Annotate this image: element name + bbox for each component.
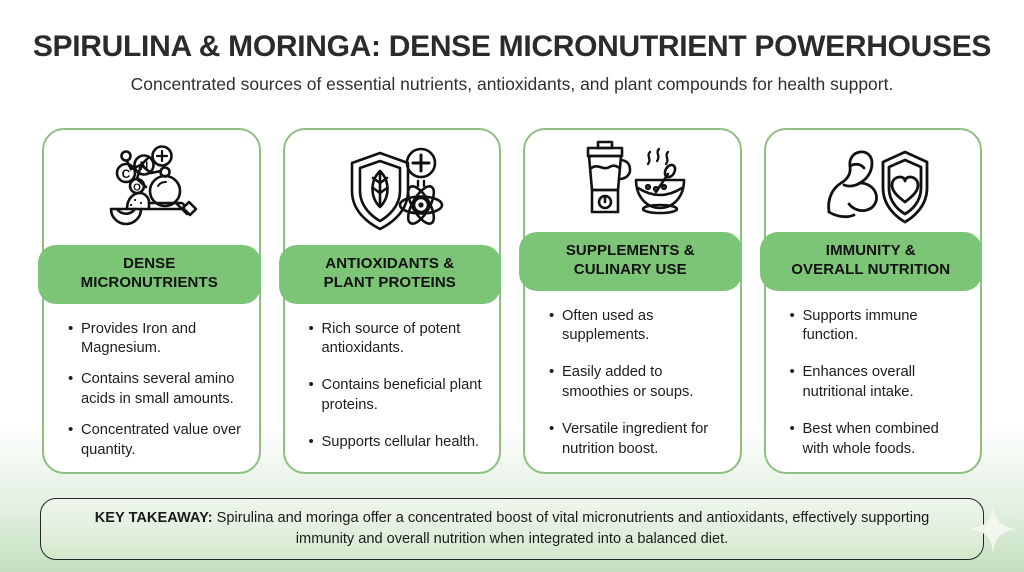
card-antioxidants-plant-proteins: ANTIOXIDANTS & PLANT PROTEINS Rich sourc… — [283, 128, 502, 474]
list-item: Easily added to smoothies or soups. — [549, 363, 726, 403]
card-title-pill: ANTIOXIDANTS & PLANT PROTEINS — [279, 245, 502, 304]
card-title-line-1: ANTIOXIDANTS & — [287, 255, 494, 274]
card-title-line-2: OVERALL NUTRITION — [768, 261, 975, 280]
list-item: Contains beneficial plant proteins. — [309, 376, 486, 416]
card-bullet-list: Provides Iron and Magnesium. Contains se… — [44, 320, 259, 472]
card-title-line-1: DENSE — [46, 255, 253, 274]
list-item: Enhances overall nutritional intake. — [790, 363, 967, 403]
card-title-pill: SUPPLEMENTS & CULINARY USE — [519, 232, 742, 291]
card-title-line-1: SUPPLEMENTS & — [527, 242, 734, 261]
key-takeaway-text: KEY TAKEAWAY: Spirulina and moringa offe… — [67, 508, 957, 549]
list-item: Supports cellular health. — [309, 433, 486, 453]
card-title-pill: DENSE MICRONUTRIENTS — [38, 245, 261, 304]
blender-soup-bowl-icon — [525, 130, 740, 232]
shield-leaf-atom-icon — [285, 130, 500, 245]
list-item: Best when combined with whole foods. — [790, 420, 967, 460]
card-bullet-list: Supports immune function. Enhances overa… — [766, 307, 981, 477]
card-dense-micronutrients: C N O — [42, 128, 261, 474]
key-takeaway-label: KEY TAKEAWAY: — [95, 510, 213, 526]
key-takeaway-body: Spirulina and moringa offer a concentrat… — [213, 510, 930, 547]
svg-text:C: C — [122, 167, 131, 181]
svg-text:N: N — [140, 159, 149, 173]
list-item: Contains several amino acids in small am… — [68, 370, 245, 410]
list-item: Provides Iron and Magnesium. — [68, 320, 245, 360]
card-immunity-overall-nutrition: IMMUNITY & OVERALL NUTRITION Supports im… — [764, 128, 983, 474]
card-title-line-2: MICRONUTRIENTS — [46, 274, 253, 293]
card-title-line-1: IMMUNITY & — [768, 242, 975, 261]
molecule-magnifier-scoop-icon: C N O — [44, 130, 259, 245]
list-item: Rich source of potent antioxidants. — [309, 320, 486, 360]
list-item: Concentrated value over quantity. — [68, 421, 245, 461]
card-title-line-2: PLANT PROTEINS — [287, 274, 494, 293]
key-takeaway-banner: KEY TAKEAWAY: Spirulina and moringa offe… — [40, 498, 984, 560]
card-title-line-2: CULINARY USE — [527, 261, 734, 280]
infographic-page: SPIRULINA & MORINGA: DENSE MICRONUTRIENT… — [0, 0, 1024, 572]
card-row: C N O — [42, 128, 982, 474]
card-title-pill: IMMUNITY & OVERALL NUTRITION — [760, 232, 983, 291]
card-bullet-list: Rich source of potent antioxidants. Cont… — [285, 320, 500, 470]
list-item: Often used as supplements. — [549, 307, 726, 347]
list-item: Supports immune function. — [790, 307, 967, 347]
card-bullet-list: Often used as supplements. Easily added … — [525, 307, 740, 477]
page-header: SPIRULINA & MORINGA: DENSE MICRONUTRIENT… — [0, 30, 1024, 95]
list-item: Versatile ingredient for nutrition boost… — [549, 420, 726, 460]
page-title: SPIRULINA & MORINGA: DENSE MICRONUTRIENT… — [0, 30, 1024, 63]
page-subtitle: Concentrated sources of essential nutrie… — [0, 74, 1024, 95]
flexed-arm-shield-heart-icon — [766, 130, 981, 232]
card-supplements-culinary-use: SUPPLEMENTS & CULINARY USE Often used as… — [523, 128, 742, 474]
